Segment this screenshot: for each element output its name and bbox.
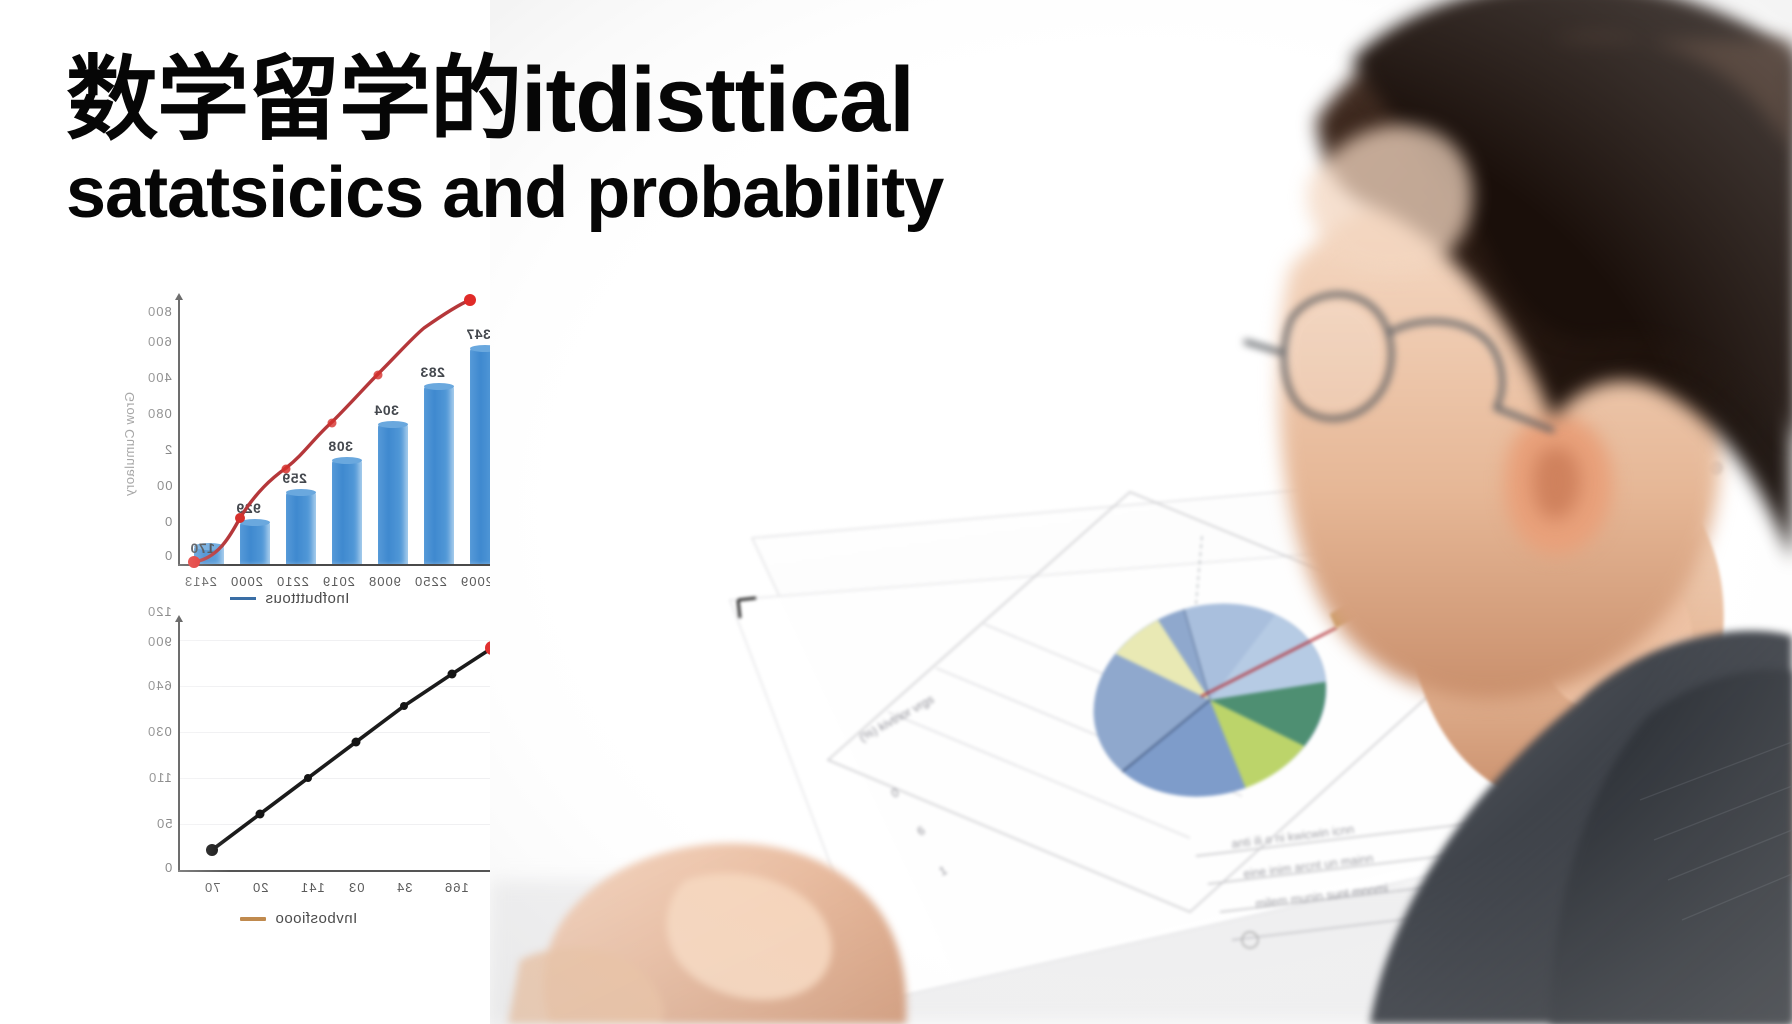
bar-value-label: 308 [328,438,353,454]
bar-ytick: 600 [147,334,172,349]
line-xtick: 34 [396,880,412,895]
bar-ytick: 00 [156,478,172,493]
bar-chart-legend: Inofbutttous [230,590,349,607]
bar-item [378,424,408,564]
legend-line-icon [240,917,266,921]
bar-item [240,522,270,564]
bar-ytick: 400 [147,370,172,385]
line-xtick: 141 [300,880,325,895]
line-xtick: 20 [252,880,268,895]
bar-xtick: 9008 [368,574,401,589]
bar-value-label: 929 [236,500,261,516]
title-line-primary: 数学留学的itdisttical [66,52,1136,148]
bar-y-axis-label: Grow Cumulaory [122,392,137,497]
bar-value-label: 347 [466,326,491,342]
bar-ytick: 0 [164,548,172,563]
growth-bar-chart: Grow Cumulaory 0 0 00 2 080 400 600 800 [60,282,530,612]
line-xtick: 03 [348,880,364,895]
line-xtick: 70 [204,880,220,895]
charts-panel: Grow Cumulaory 0 0 00 2 080 400 600 800 [0,262,560,1024]
bar-value-label: 259 [282,470,307,486]
line-series [60,610,530,1010]
bar-ytick: 080 [147,406,172,421]
line-chart-legend: Invbosfiooo [240,910,357,927]
bar-xtick: 2210 [276,574,309,589]
bar-xtick: 2009 [460,574,493,589]
legend-label: Inofbutttous [265,590,349,607]
bar-value-label: 283 [420,364,445,380]
page-title: 数学留学的itdisttical satatsicics and probabi… [66,52,1136,232]
bar-item [286,492,316,564]
bar-xtick: 2250 [414,574,447,589]
legend-label: Invbosfiooo [275,910,357,927]
bar-item [424,386,454,564]
bar-xtick: 2019 [322,574,355,589]
title-line-secondary: satatsicics and probability [66,154,1136,232]
banner-canvas: 数学留学的itdisttical satatsicics and probabi… [0,0,1792,1024]
legend-line-icon [230,597,256,600]
bar-value-label: 304 [374,402,399,418]
bar-ytick: 2 [164,442,172,457]
bar-ytick: 800 [147,304,172,319]
line-xtick: 166 [444,880,469,895]
linear-trend-chart: 0 50 110 030 640 900 120 70 20 141 03 34 [60,610,530,1010]
bar-item [332,460,362,564]
bar-xtick: 2413 [184,574,217,589]
bar-xtick: 2000 [230,574,263,589]
bar-ytick: 0 [164,514,172,529]
bar-value-label: 170 [190,540,215,556]
